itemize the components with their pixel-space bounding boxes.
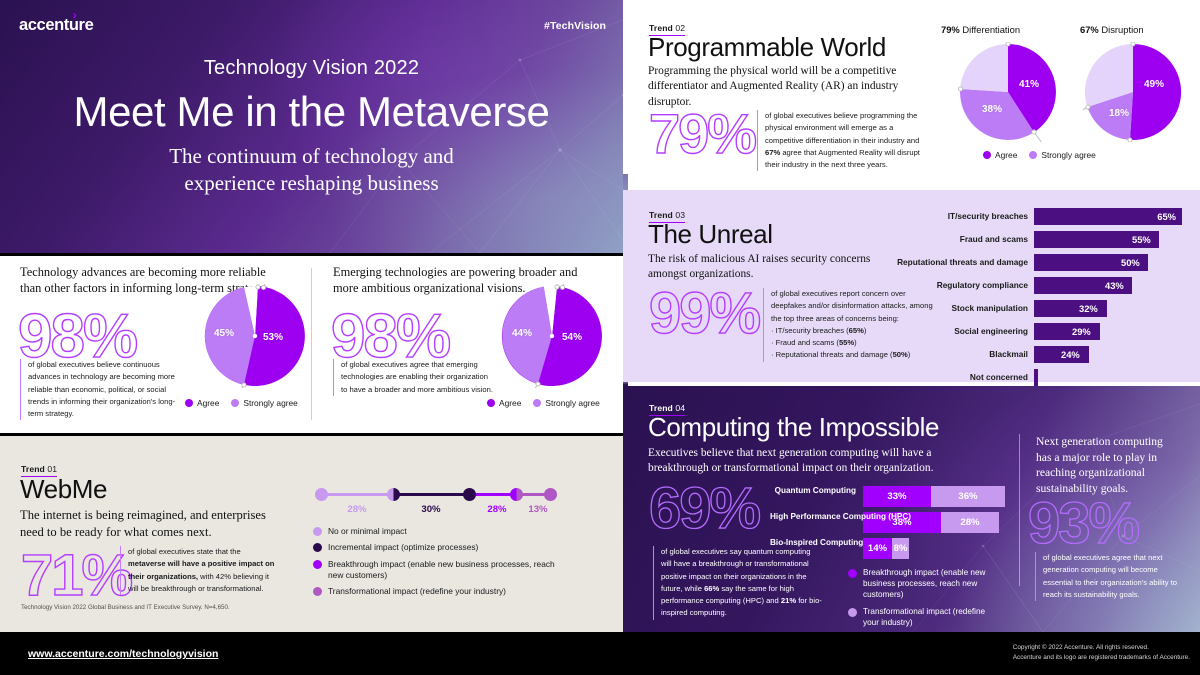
timeline-dot-5 [544,488,557,501]
trend-04-title: Computing the Impossible [648,412,939,443]
trend-04-description: Executives believe that next generation … [648,446,948,477]
legend-item-strongly-agree: Strongly agree [533,398,599,408]
timeline-value-4: 13% [519,504,557,515]
legend-item-strongly-agree: Strongly agree [1029,150,1095,160]
hero-subtitle-line-2: experience reshaping business [0,170,623,197]
timeline-value-2: 30% [401,504,461,515]
trend-02-pie-2-title: 67% Disruption [1080,24,1144,35]
timeline-dot-3 [463,488,476,501]
bar-value-5: 32% [1079,303,1098,314]
stacked-row-quantum: Quantum Computing 33% 36% [863,486,1005,507]
trend-01-title: WebMe [20,474,107,505]
trend-01-tag-label: Trend [21,464,45,474]
logo-wordmark: accenture [19,16,93,34]
intro-stat-2-pie-chart: 44% 54% [500,284,604,388]
bar-label-1: IT/security breaches [948,211,1028,221]
bar-label-6: Social engineering [954,326,1028,336]
bar-fill-8 [1034,369,1038,386]
trend-03-bullet-1: · IT/security breaches (65%) [771,325,933,337]
trend-04-legend: Breakthrough impact (enable new business… [848,568,988,629]
trend-02-body-pre: of global executives believe programming… [765,111,919,145]
trend-01-tag-number: 01 [47,464,57,474]
pie-label-strongly-agree: 45% [214,328,234,339]
trend-01-description: The internet is being reimagined, and en… [20,507,270,541]
intro-stat-1-legend: Agree Strongly agree [185,398,298,408]
trend-04-bignum: 69% [649,481,759,536]
trend-03-body: of global executives report concern over… [763,288,933,362]
bar-row-2: Fraud and scams 55% [1034,231,1159,248]
hero-kicker: Technology Vision 2022 [0,57,623,80]
hashtag-techvision: #TechVision [544,20,606,32]
legend-dot-breakthrough [848,569,857,578]
bar-label-3: Reputational threats and damage [897,257,1028,267]
timeline-value-3: 28% [473,504,521,515]
bar-label-5: Stock manipulation [951,303,1028,313]
footer-copyright-line-2: Accenture and its logo are registered tr… [1013,653,1190,663]
legend-dot-incremental [313,543,322,552]
hero-subtitle: The continuum of technology and experien… [0,143,623,197]
legend-item-agree: Agree [983,150,1017,160]
legend-item-agree: Agree [185,398,219,408]
legend-dot-strongly-agree [231,399,239,407]
trend-02-pie-chart-1: 41% 38% [958,42,1058,142]
trend-02-pie-chart-2: 49% 18% [1083,42,1183,142]
intro-stats-section: Technology advances are becoming more re… [0,256,623,433]
legend-item-breakthrough: Breakthrough impact (enable new business… [313,559,563,582]
trend-04-side-percent: % [1089,491,1139,556]
legend-label-agree: Agree [499,398,521,408]
bar-value-7: 24% [1061,349,1080,360]
infographic-page: accenture › #TechVision Technology Visio… [0,0,1200,675]
trend-04-body-bold-1: 66% [704,584,719,593]
trend-03-value: 99 [649,281,710,346]
footer-copyright-line-1: Copyright © 2022 Accenture. All rights r… [1013,643,1190,653]
bar-label-7: Blackmail [989,349,1028,359]
stacked-seg-breakthrough: 14% [863,538,892,559]
timeline-dot-2 [387,488,400,501]
legend-label-breakthrough: Breakthrough impact (enable new business… [328,559,563,582]
trend-04-value: 69 [649,476,710,541]
legend-item-breakthrough: Breakthrough impact (enable new business… [848,568,988,601]
trend-03-bignum: 99% [649,286,759,341]
legend-dot-breakthrough [313,560,322,569]
stacked-seg-transformational: 28% [941,512,999,533]
trend-02-pie-1-title: 79% Differentiation [941,24,1020,35]
bar-label-8: Not concerned [970,372,1028,382]
legend-label-strongly-agree: Strongly agree [243,398,297,408]
trend-03-description: The risk of malicious AI raises security… [648,252,888,283]
stats-divider [311,268,312,420]
bar-row-4: Regulatory compliance 43% [1034,277,1132,294]
bar-row-3: Reputational threats and damage 50% [1034,254,1148,271]
left-column: accenture › #TechVision Technology Visio… [0,0,623,675]
bar-value-2: 55% [1132,234,1151,245]
bar-row-8: Not concerned [1034,369,1038,386]
footer-website-link[interactable]: www.accenture.com/technologyvision [28,648,218,660]
trend-01-panel: Trend 01 WebMe The internet is being rei… [0,436,623,632]
trend-01-body-pre: of global executives state that the [128,547,241,556]
pie-slice-remainder [960,44,1008,92]
right-column: Trend 02 Programmable World Programming … [623,0,1200,675]
legend-dot-agree [487,399,495,407]
stacked-row-hpc: High Performance Computing (HPC) 38% 28% [863,512,999,533]
intro-stat-2-body: of global executives agree that emerging… [333,359,493,396]
trend-02-body-bold: 67% [765,148,780,157]
trend-03-bullet-2: · Fraud and scams (55%) [771,337,933,349]
legend-label-strongly-agree: Strongly agree [1041,150,1095,160]
trend-04-body: of global executives say quantum computi… [653,546,823,620]
trend-02-body-post: agree that Augmented Reality will disrup… [765,148,920,169]
timeline-value-1: 28% [327,504,387,515]
legend-item-incremental: Incremental impact (optimize processes) [313,542,593,553]
pie-label-agree: 53% [263,332,283,343]
legend-item-transformational: Transformational impact (redefine your i… [313,586,593,597]
pie-slice-agree [1130,44,1181,140]
legend-label-breakthrough: Breakthrough impact (enable new business… [863,568,988,601]
legend-dot-agree [983,151,991,159]
footer-copyright: Copyright © 2022 Accenture. All rights r… [1013,643,1190,663]
pie-label-strongly-agree: 44% [512,328,532,339]
trend-01-legend: No or minimal impact Incremental impact … [313,526,593,603]
trend-04-side-heading: Next generation computing has a major ro… [1036,434,1181,496]
bar-value-6: 29% [1072,326,1091,337]
trend-02-body: of global executives believe programming… [757,110,927,171]
accenture-logo: accenture › [19,16,93,35]
legend-label-agree: Agree [197,398,219,408]
bar-label-4: Regulatory compliance [937,280,1028,290]
pie-label-agree: 41% [1019,79,1039,90]
timeline-segment-1 [322,493,394,496]
bar-label-2: Fraud and scams [960,234,1028,244]
trend-02-pie-2-value: 67% [1080,24,1099,35]
trend-03-body-lead: of global executives report concern over… [771,289,933,323]
trend-03-percent: % [710,281,760,346]
trend-01-bignum: 71% [21,548,131,603]
trend-03-title: The Unreal [648,219,773,250]
trend-04-side-body: of global executives agree that next gen… [1035,552,1183,601]
trend-01-impact-timeline: 28% 30% 28% 13% [313,488,559,514]
legend-dot-transformational [848,608,857,617]
trend-03-bullet-3: · Reputational threats and damage (50%) [771,349,933,361]
legend-dot-strongly-agree [1029,151,1037,159]
legend-item-strongly-agree: Strongly agree [231,398,297,408]
trend-02-bignum: 79% [649,107,755,160]
pie-label-agree: 54% [562,332,582,343]
bar-value-1: 65% [1157,211,1176,222]
legend-label-agree: Agree [995,150,1017,160]
legend-dot-no-impact [313,527,322,536]
pie-svg [1083,42,1183,142]
trend-02-pie-2-label: Disruption [1099,24,1144,35]
trend-04-panel: Trend 04 Computing the Impossible Execut… [623,386,1200,632]
bar-value-4: 43% [1105,280,1124,291]
trend-02-pie-1-label: Differentiation [960,24,1020,35]
bar-row-5: Stock manipulation 32% [1034,300,1107,317]
legend-label-transformational: Transformational impact (redefine your i… [328,586,506,597]
hero-subtitle-line-1: The continuum of technology and [0,143,623,170]
legend-dot-strongly-agree [533,399,541,407]
timeline-dot-4 [510,488,523,501]
bar-value-3: 50% [1121,257,1140,268]
legend-label-transformational: Transformational impact (redefine your i… [863,607,988,629]
trend-02-panel: Trend 02 Programmable World Programming … [623,0,1200,174]
trend-04-percent: % [710,476,760,541]
trend-03-panel: Trend 03 The Unreal The risk of maliciou… [623,190,1200,382]
stacked-row-bio: Bio-Inspired Computing 14% 8% [863,538,909,559]
legend-label-no-impact: No or minimal impact [328,526,407,537]
trend-04-side-value: 93 [1028,491,1089,556]
trend-01-source-note: Technology Vision 2022 Global Business a… [21,604,230,611]
trend-02-value: 79 [649,102,707,165]
legend-dot-transformational [313,587,322,596]
trend-04-body-bold-2: 21% [781,596,796,605]
legend-item-agree: Agree [487,398,521,408]
bar-row-6: Social engineering 29% [1034,323,1100,340]
legend-item-transformational: Transformational impact (redefine your i… [848,607,988,629]
pie-svg [958,42,1058,142]
stacked-seg-transformational: 36% [931,486,1005,507]
stacked-seg-breakthrough: 33% [863,486,931,507]
stacked-label-hpc: High Performance Computing (HPC) [770,512,856,522]
trend-02-pie-1-value: 79% [941,24,960,35]
intro-stat-1-body: of global executives believe continuous … [20,359,188,420]
intro-stat-1-pie-chart: 45% 53% [203,284,307,388]
logo-arrow-icon: › [73,9,77,21]
stacked-label-bio: Bio-Inspired Computing [770,538,856,548]
stacked-label-quantum: Quantum Computing [770,486,856,496]
legend-label-strongly-agree: Strongly agree [545,398,599,408]
bar-row-1: IT/security breaches 65% [1034,208,1182,225]
page-footer: www.accenture.com/technologyvision Copyr… [0,632,1200,675]
trend-04-stacked-bar-chart: Quantum Computing 33% 36% High Performan… [863,486,1005,566]
trend-03-bar-chart: IT/security breaches 65% Fraud and scams… [1034,208,1182,368]
trend-02-legend: Agree Strongly agree [983,150,1096,160]
timeline-dot-1 [315,488,328,501]
trend-01-value: 71 [21,543,82,608]
pie-label-strongly-agree: 18% [1109,108,1129,119]
trend-01-body: of global executives state that the meta… [120,546,280,595]
bar-row-7: Blackmail 24% [1034,346,1089,363]
trend-02-title: Programmable World [648,32,886,63]
stacked-seg-transformational: 8% [892,538,909,559]
hero-banner: accenture › #TechVision Technology Visio… [0,0,623,253]
timeline-segment-2 [394,493,470,496]
trend-04-side-bignum: 93% [1028,496,1138,551]
hero-title: Meet Me in the Metaverse [0,88,623,136]
intro-stat-2-legend: Agree Strongly agree [487,398,600,408]
legend-dot-agree [185,399,193,407]
pie-label-agree: 49% [1144,79,1164,90]
legend-label-incremental: Incremental impact (optimize processes) [328,542,478,553]
pie-label-strongly-agree: 38% [982,104,1002,115]
trend-04-divider [1019,434,1020,586]
trend-02-percent: % [707,102,755,165]
legend-item-no-impact: No or minimal impact [313,526,593,537]
